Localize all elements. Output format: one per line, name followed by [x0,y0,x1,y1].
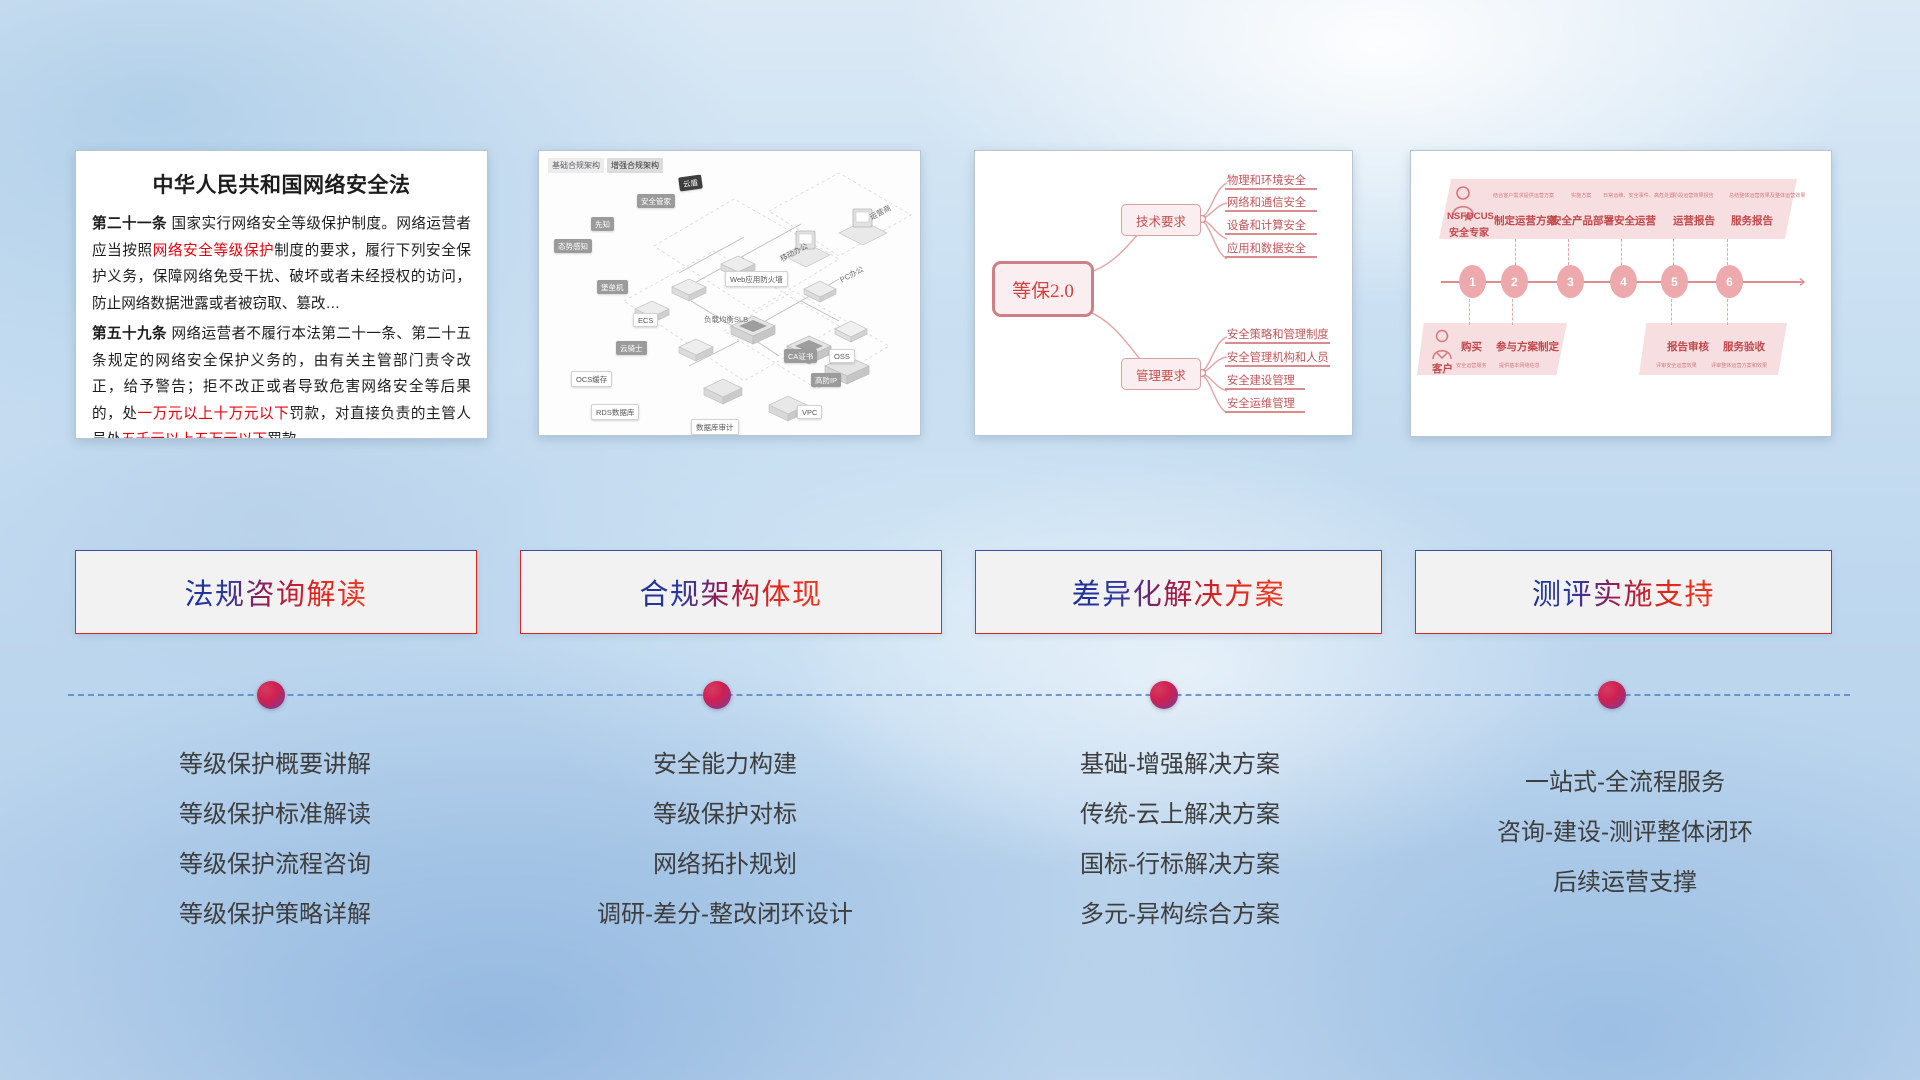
mindmap-leaf-org-personnel: 安全管理机构和人员 [1227,349,1329,365]
list-item: 一站式-全流程服务 [1400,758,1850,808]
timeline-arrow-icon [1793,275,1807,289]
timeline-step-number: 6 [1716,265,1743,298]
headline-label-4: 测评实施支持 [1532,571,1715,613]
timeline-dash-connector [1727,239,1728,265]
mindmap-branch-management: 管理要求 [1121,358,1201,390]
arch-node-ca-cert: CA证书 [784,349,817,363]
timeline-node-dot-3[interactable] [1150,681,1178,709]
mindmap-underline [1225,233,1317,235]
arch-node-load-balancer: 负载均衡SLB [704,314,748,325]
list-item: 等级保护标准解读 [60,790,490,840]
column-list-4: 一站式-全流程服务 咨询-建设-测评整体闭环 后续运营支撑 [1400,758,1850,908]
thumbnail-mindmap-card[interactable]: 等保2.0 技术要求 管理要求 物理和环境安全 网络和通信安全 设备和计算安全 … [974,150,1353,436]
timeline-step-number: 3 [1557,265,1584,298]
timeline-dash-connector [1515,239,1516,265]
column-list-3: 基础-增强解决方案 传统-云上解决方案 国标-行标解决方案 多元-异构综合方案 [960,740,1400,940]
timeline-top-sub-5: 总结整体运营效果及整体运营效果 [1729,192,1805,199]
timeline-bottom-main-3: 报告审核 [1667,339,1709,354]
timeline-top-main-1: 制定运营方案 [1494,213,1557,228]
list-item: 等级保护对标 [500,790,950,840]
mindmap-leaf-app-data: 应用和数据安全 [1227,240,1306,256]
thumbnail-architecture-card[interactable]: 基础合规架构 增强合规架构 [538,150,921,436]
headline-box-1[interactable]: 法规咨询解读 [75,550,477,634]
timeline-node-dot-4[interactable] [1598,681,1626,709]
timeline-top-sub-2: 实施方案 [1571,192,1591,199]
timeline-dash-connector [1469,299,1470,325]
list-item: 等级保护概要讲解 [60,740,490,790]
timeline-dash-connector [1568,239,1569,265]
headline-label-1: 法规咨询解读 [184,571,367,613]
arch-node-xianzhi: 先知 [591,217,614,231]
mindmap-leaf-device-compute: 设备和计算安全 [1227,217,1306,233]
arch-node-vpc: VPC [797,405,822,419]
arch-node-security-steward: 安全管家 [637,194,675,208]
law-card-article-59: 第五十九条 网络运营者不履行本法第二十一条、第二十五条规定的网络安全保护义务的，… [92,321,471,439]
headline-box-4[interactable]: 测评实施支持 [1415,550,1832,634]
timeline-bottom-main-4: 服务验收 [1723,339,1765,354]
thumbnail-row: 中华人民共和国网络安全法 第二十一条 国家实行网络安全等级保护制度。网络运营者应… [0,150,1920,440]
list-item: 多元-异构综合方案 [960,890,1400,940]
timeline-bottom-sub-4: 评审整体运营方案和效果 [1711,362,1767,369]
headline-label-2: 合规架构体现 [639,571,822,613]
timeline-top-main-2: 安全产品部署 [1551,213,1614,228]
thumbnail-law-card[interactable]: 中华人民共和国网络安全法 第二十一条 国家实行网络安全等级保护制度。网络运营者应… [75,150,488,439]
timeline-top-sub-3: 日常运维、安全事件、高危处置 [1603,192,1674,199]
timeline-bottom-sub-1: 安全运营服务 [1456,362,1487,369]
timeline-top-band [1439,179,1797,239]
article-59-highlight-1: 一万元以上十万元以下 [138,406,290,422]
timeline-dash-connector [1673,239,1674,265]
list-item: 国标-行标解决方案 [960,840,1400,890]
list-item: 调研-差分-整改闭环设计 [500,890,950,940]
timeline-top-main-4: 运营报告 [1673,213,1715,228]
list-item: 咨询-建设-测评整体闭环 [1400,808,1850,858]
article-59-label: 第五十九条 [92,326,167,342]
mindmap-underline [1225,210,1317,212]
mindmap-root-node: 等保2.0 [992,261,1094,317]
arch-node-ocs-cache: OCS缓存 [571,371,612,387]
list-item: 等级保护策略详解 [60,890,490,940]
mindmap-leaf-ops-mgmt: 安全运维管理 [1227,395,1295,411]
arch-node-ecs: ECS [633,313,658,327]
timeline-node-dot-1[interactable] [257,681,285,709]
list-item: 等级保护流程咨询 [60,840,490,890]
timeline-top-main-3: 安全运营 [1614,213,1656,228]
mindmap-underline [1225,388,1305,390]
arch-node-oss: OSS [829,349,855,363]
timeline-dashed-axis [68,694,1850,696]
arch-node-bastion-host: 堡垒机 [597,280,628,294]
timeline-bottom-main-2: 参与方案制定 [1496,339,1559,354]
mindmap-underline [1225,256,1317,258]
law-card-title: 中华人民共和国网络安全法 [92,169,471,199]
mindmap-leaf-physical-env: 物理和环境安全 [1227,172,1306,188]
timeline-step-number: 5 [1661,265,1688,298]
arch-node-rds-database: RDS数据库 [591,404,639,420]
mindmap-underline [1225,342,1330,344]
thumbnail-timeline-card[interactable]: NSFOCUS 安全专家 结合客户需求提供运营方案 制定运营方案 实施方案 安全… [1410,150,1832,437]
timeline-top-main-5: 服务报告 [1731,213,1773,228]
mindmap-leaf-network-comm: 网络和通信安全 [1227,194,1306,210]
list-item: 基础-增强解决方案 [960,740,1400,790]
timeline-step-number: 2 [1501,265,1528,298]
article-21-highlight: 网络安全等级保护 [153,243,274,259]
article-59-text-c: 罚款。 [267,432,311,439]
column-list-2: 安全能力构建 等级保护对标 网络拓扑规划 调研-差分-整改闭环设计 [500,740,950,940]
timeline-dash-connector [1727,299,1728,325]
timeline-node-dot-2[interactable] [703,681,731,709]
list-item: 后续运营支撑 [1400,858,1850,908]
timeline-top-sub-1: 结合客户需求提供运营方案 [1493,192,1554,199]
mindmap-underline [1225,365,1330,367]
arch-node-db-audit: 数据库审计 [691,419,739,435]
timeline-step-number: 1 [1459,265,1486,298]
timeline-expert-label-line2: 安全专家 [1449,224,1489,239]
arch-node-waf: Web应用防火墙 [725,271,788,287]
architecture-diagram-svg [539,151,920,435]
timeline-dash-connector [1512,299,1513,325]
arch-node-situational-awareness: 态势感知 [554,239,592,253]
law-card-article-21: 第二十一条 国家实行网络安全等级保护制度。网络运营者应当按照网络安全等级保护制度… [92,211,471,317]
arch-node-yunqishi: 云骑士 [616,341,647,355]
list-item: 网络拓扑规划 [500,840,950,890]
timeline-top-sub-4: 阶段运营效果报告 [1673,192,1714,199]
timeline-bottom-sub-2: 提供基本网络信息 [1499,362,1540,369]
mindmap-leaf-policy-system: 安全策略和管理制度 [1227,326,1329,342]
headline-box-3[interactable]: 差异化解决方案 [975,550,1382,634]
arch-node-high-defense-ip: 高防IP [811,373,841,387]
timeline-bottom-main-1: 购买 [1461,339,1482,354]
list-item: 安全能力构建 [500,740,950,790]
mindmap-leaf-build-mgmt: 安全建设管理 [1227,372,1295,388]
article-59-highlight-2: 五千元以上五万元以下 [121,432,267,439]
headline-label-3: 差异化解决方案 [1072,571,1286,613]
mindmap-underline [1225,188,1317,190]
mindmap-underline [1225,411,1305,413]
timeline-step-number: 4 [1610,265,1637,298]
timeline-bottom-sub-3: 评审安全运营效果 [1656,362,1697,369]
headline-box-2[interactable]: 合规架构体现 [520,550,942,634]
timeline-dash-connector [1621,239,1622,265]
timeline-customer-label: 客户 [1432,361,1453,376]
timeline-expert-label-line1: NSFOCUS [1447,211,1494,222]
article-21-label: 第二十一条 [92,216,167,232]
mindmap-branch-technical: 技术要求 [1121,204,1201,236]
column-list-1: 等级保护概要讲解 等级保护标准解读 等级保护流程咨询 等级保护策略详解 [60,740,490,940]
timeline-dash-connector [1671,299,1672,325]
list-item: 传统-云上解决方案 [960,790,1400,840]
